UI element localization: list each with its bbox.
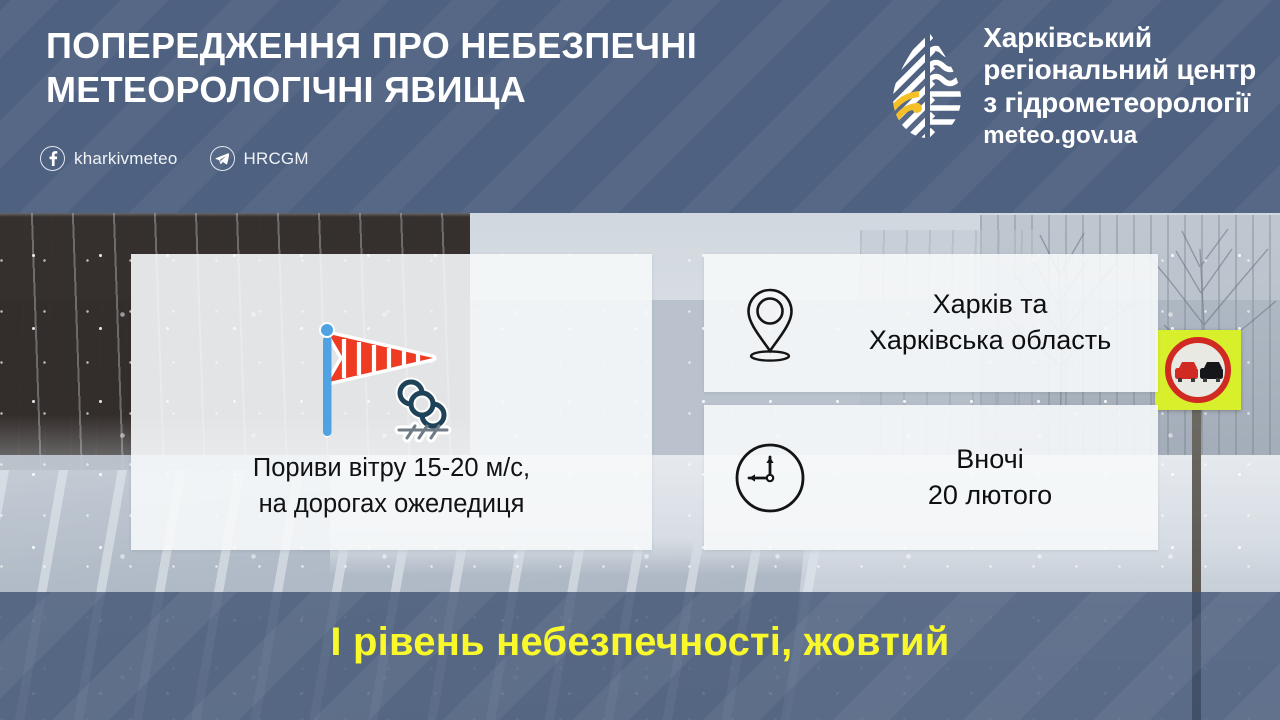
danger-level-text: I рівень небезпечності, жовтий	[0, 620, 1280, 665]
social-label-telegram: HRCGM	[244, 149, 309, 169]
organization-logo: Харківський регіональний центр з гідроме…	[887, 22, 1256, 152]
facebook-icon	[40, 146, 65, 171]
phenomenon-caption: Пориви вітру 15-20 м/с, на дорогах ожеле…	[131, 450, 652, 522]
affected-area-line1: Харків та	[836, 287, 1144, 323]
telegram-icon	[210, 146, 235, 171]
social-links: kharkivmeteo HRCGM	[40, 146, 309, 171]
warning-time-line1: Вночі	[836, 442, 1144, 478]
water-droplet-logo-icon	[887, 28, 967, 140]
warning-time-line2: 20 лютого	[836, 478, 1144, 514]
icy-road-icon	[399, 382, 447, 438]
warning-time-card: Вночі 20 лютого	[704, 405, 1158, 550]
org-name-line3: з гідрометеорології	[983, 87, 1256, 119]
warning-phenomenon-card: Пориви вітру 15-20 м/с, на дорогах ожеле…	[131, 254, 652, 550]
danger-level-bar: I рівень небезпечності, жовтий	[0, 592, 1280, 720]
phenomenon-icons	[131, 294, 652, 444]
page-title-line2: МЕТЕОРОЛОГІЧНІ ЯВИЩА	[46, 68, 697, 112]
no-overtaking-sign-icon	[1155, 330, 1241, 410]
social-link-facebook[interactable]: kharkivmeteo	[40, 146, 178, 171]
org-name-line2: регіональний центр	[983, 54, 1256, 86]
clock-icon	[704, 440, 836, 516]
social-link-telegram[interactable]: HRCGM	[210, 146, 309, 171]
org-website-url[interactable]: meteo.gov.ua	[983, 120, 1256, 151]
map-pin-icon	[704, 283, 836, 363]
social-label-facebook: kharkivmeteo	[74, 149, 178, 169]
affected-area-text: Харків та Харківська область	[836, 287, 1158, 359]
org-name-line1: Харківський	[983, 22, 1256, 54]
warning-time-text: Вночі 20 лютого	[836, 442, 1158, 514]
affected-area-card: Харків та Харківська область	[704, 254, 1158, 392]
affected-area-line2: Харківська область	[836, 323, 1144, 359]
phenomenon-caption-line1: Пориви вітру 15-20 м/с,	[131, 450, 652, 486]
header-banner: ПОПЕРЕДЖЕННЯ ПРО НЕБЕЗПЕЧНІ МЕТЕОРОЛОГІЧ…	[0, 0, 1280, 213]
page-title: ПОПЕРЕДЖЕННЯ ПРО НЕБЕЗПЕЧНІ МЕТЕОРОЛОГІЧ…	[46, 24, 697, 112]
organization-name: Харківський регіональний центр з гідроме…	[983, 22, 1256, 152]
page-title-line1: ПОПЕРЕДЖЕННЯ ПРО НЕБЕЗПЕЧНІ	[46, 24, 697, 68]
phenomenon-caption-line2: на дорогах ожеледиця	[131, 486, 652, 522]
